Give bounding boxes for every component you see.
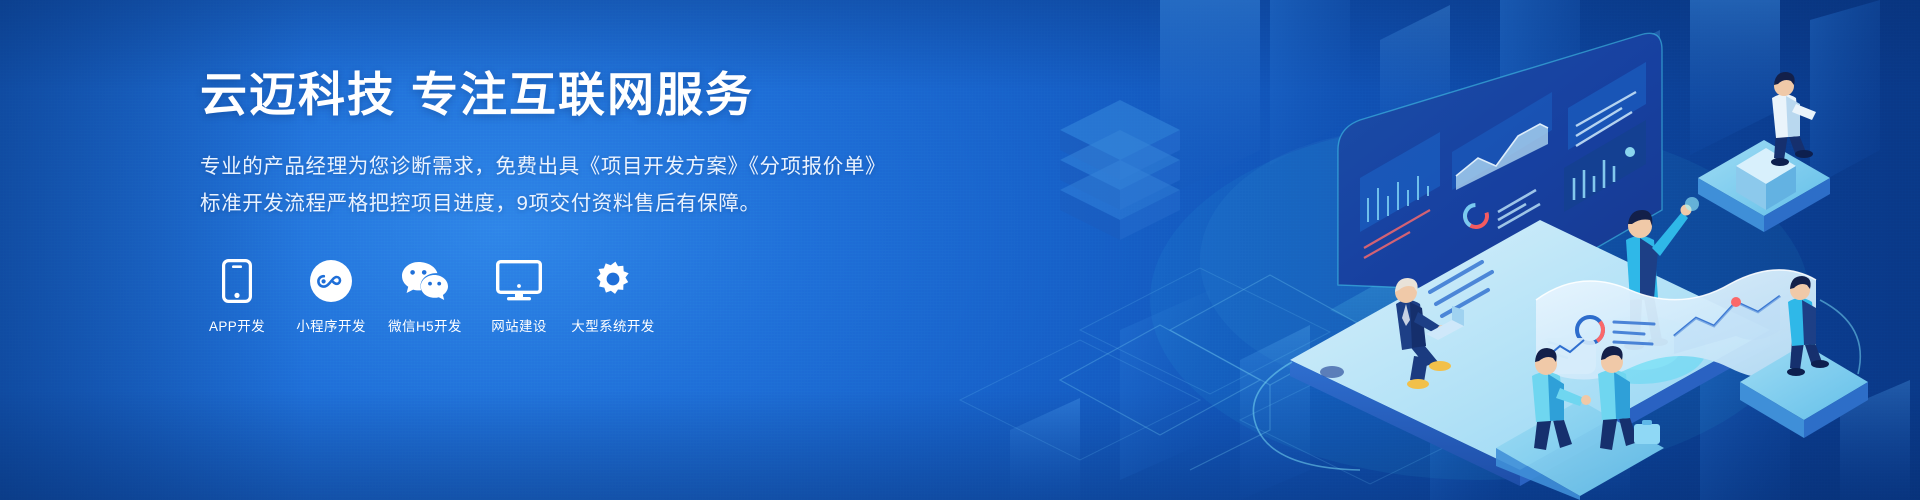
wechat-icon xyxy=(400,258,450,304)
service-item-wechat-h5[interactable]: 微信H5开发 xyxy=(388,258,462,335)
isometric-tech-dashboard-illustration xyxy=(940,0,1920,500)
service-item-website[interactable]: 网站建设 xyxy=(482,258,556,335)
banner-content: 云迈科技 专注互联网服务 专业的产品经理为您诊断需求，免费出具《项目开发方案》《… xyxy=(200,66,960,335)
service-label: 微信H5开发 xyxy=(388,315,462,335)
mobile-phone-icon xyxy=(222,258,252,304)
service-label: 大型系统开发 xyxy=(571,315,654,335)
service-item-app[interactable]: APP开发 xyxy=(200,258,274,335)
service-item-mini-program[interactable]: 小程序开发 xyxy=(294,258,368,335)
monitor-icon xyxy=(496,258,542,304)
service-item-large-system[interactable]: 大型系统开发 xyxy=(576,258,650,335)
gear-icon xyxy=(592,258,634,304)
mini-program-icon xyxy=(310,258,352,304)
service-label: APP开发 xyxy=(209,315,265,335)
subtitle-line-2: 标准开发流程严格把控项目进度，9项交付资料售后有保障。 xyxy=(200,186,960,222)
service-label: 小程序开发 xyxy=(296,315,366,335)
subtitle-line-1: 专业的产品经理为您诊断需求，免费出具《项目开发方案》《分项报价单》 xyxy=(200,149,960,185)
page-title: 云迈科技 专注互联网服务 xyxy=(200,66,960,123)
service-list: APP开发 小程序开发 xyxy=(200,258,960,335)
service-label: 网站建设 xyxy=(491,315,547,335)
hero-banner: 云迈科技 专注互联网服务 专业的产品经理为您诊断需求，免费出具《项目开发方案》《… xyxy=(0,0,1920,500)
